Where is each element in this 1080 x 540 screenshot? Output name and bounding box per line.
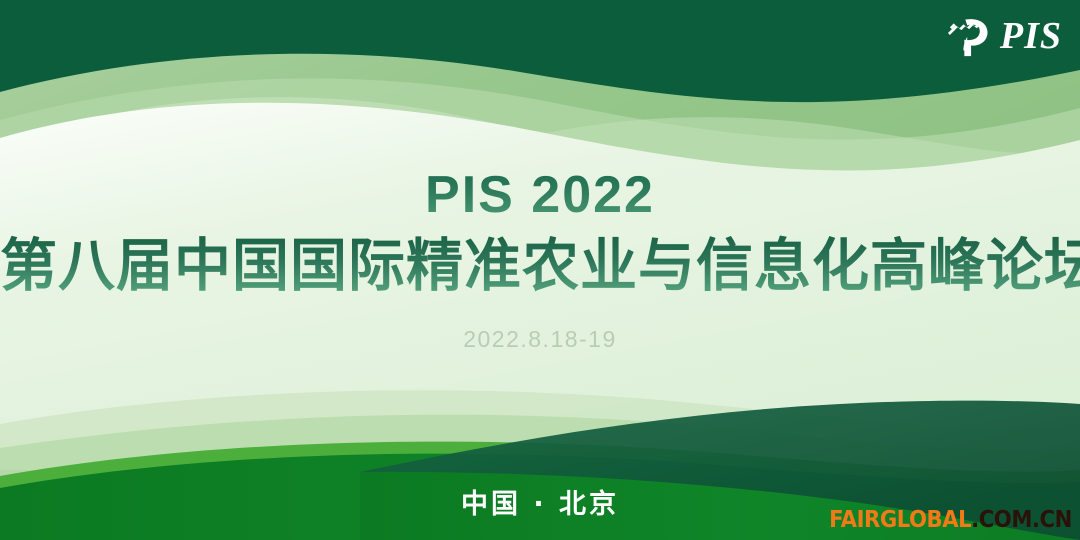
hero-block: PIS 2022 第八届中国国际精准农业与信息化高峰论坛 2022.8.18-1… — [0, 168, 1080, 353]
watermark: FAIRGLOBAL.COM.CN — [829, 509, 1072, 532]
event-banner: PIS PIS 2022 第八届中国国际精准农业与信息化高峰论坛 2022.8.… — [0, 0, 1080, 540]
logo-text: PIS — [1000, 17, 1062, 55]
wheat-p-icon — [944, 8, 1002, 60]
event-date: 2022.8.18-19 — [0, 326, 1080, 353]
page-title-en: PIS 2022 — [0, 168, 1080, 223]
pis-logo[interactable]: PIS — [912, 6, 1062, 62]
watermark-brand: FAIRGLOBAL — [829, 507, 971, 533]
watermark-tld: .COM.CN — [971, 507, 1072, 533]
page-title-cn: 第八届中国国际精准农业与信息化高峰论坛 — [0, 235, 1080, 299]
